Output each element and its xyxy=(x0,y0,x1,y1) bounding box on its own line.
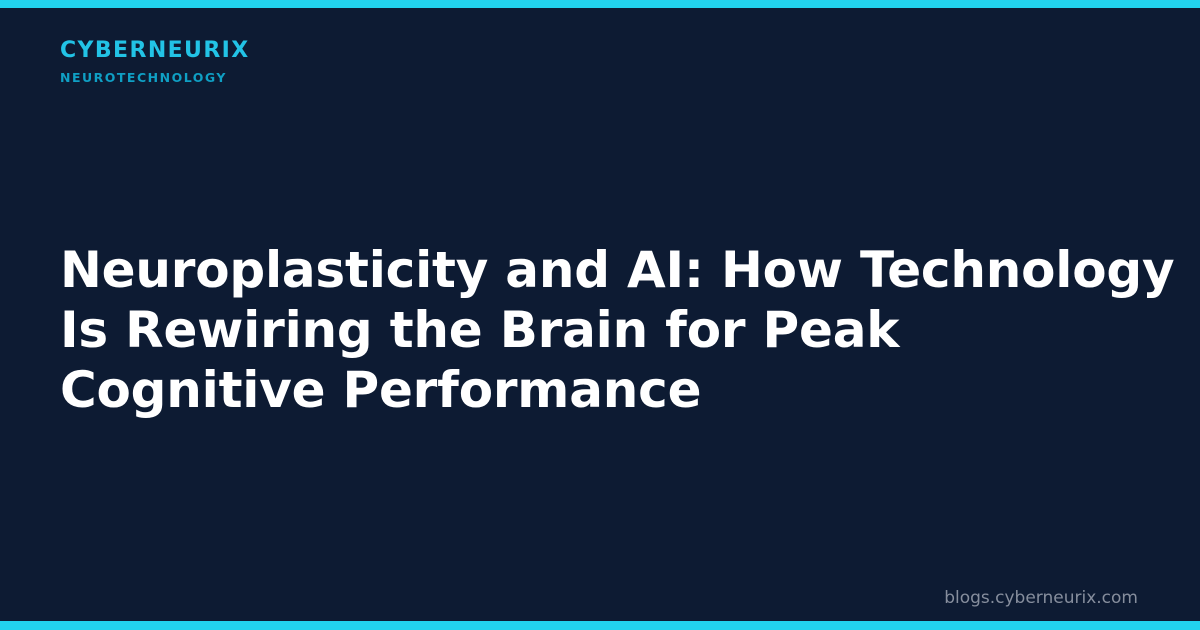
footer: blogs.cyberneurix.com xyxy=(944,588,1138,608)
headline-line-3: Cognitive Performance xyxy=(60,360,1150,420)
social-share-card: CYBERNEURIX NEUROTECHNOLOGY Neuroplastic… xyxy=(0,0,1200,630)
brand-lockup: CYBERNEURIX NEUROTECHNOLOGY xyxy=(60,38,250,85)
brand-tagline: NEUROTECHNOLOGY xyxy=(60,70,250,85)
headline-line-1: Neuroplasticity and AI: How Technology xyxy=(60,240,1150,300)
brand-name: CYBERNEURIX xyxy=(60,38,250,64)
bottom-accent-bar xyxy=(0,621,1200,630)
site-url: blogs.cyberneurix.com xyxy=(944,588,1138,608)
headline-line-2: Is Rewiring the Brain for Peak xyxy=(60,300,1150,360)
page-title: Neuroplasticity and AI: How Technology I… xyxy=(60,240,1150,420)
top-accent-bar xyxy=(0,0,1200,8)
